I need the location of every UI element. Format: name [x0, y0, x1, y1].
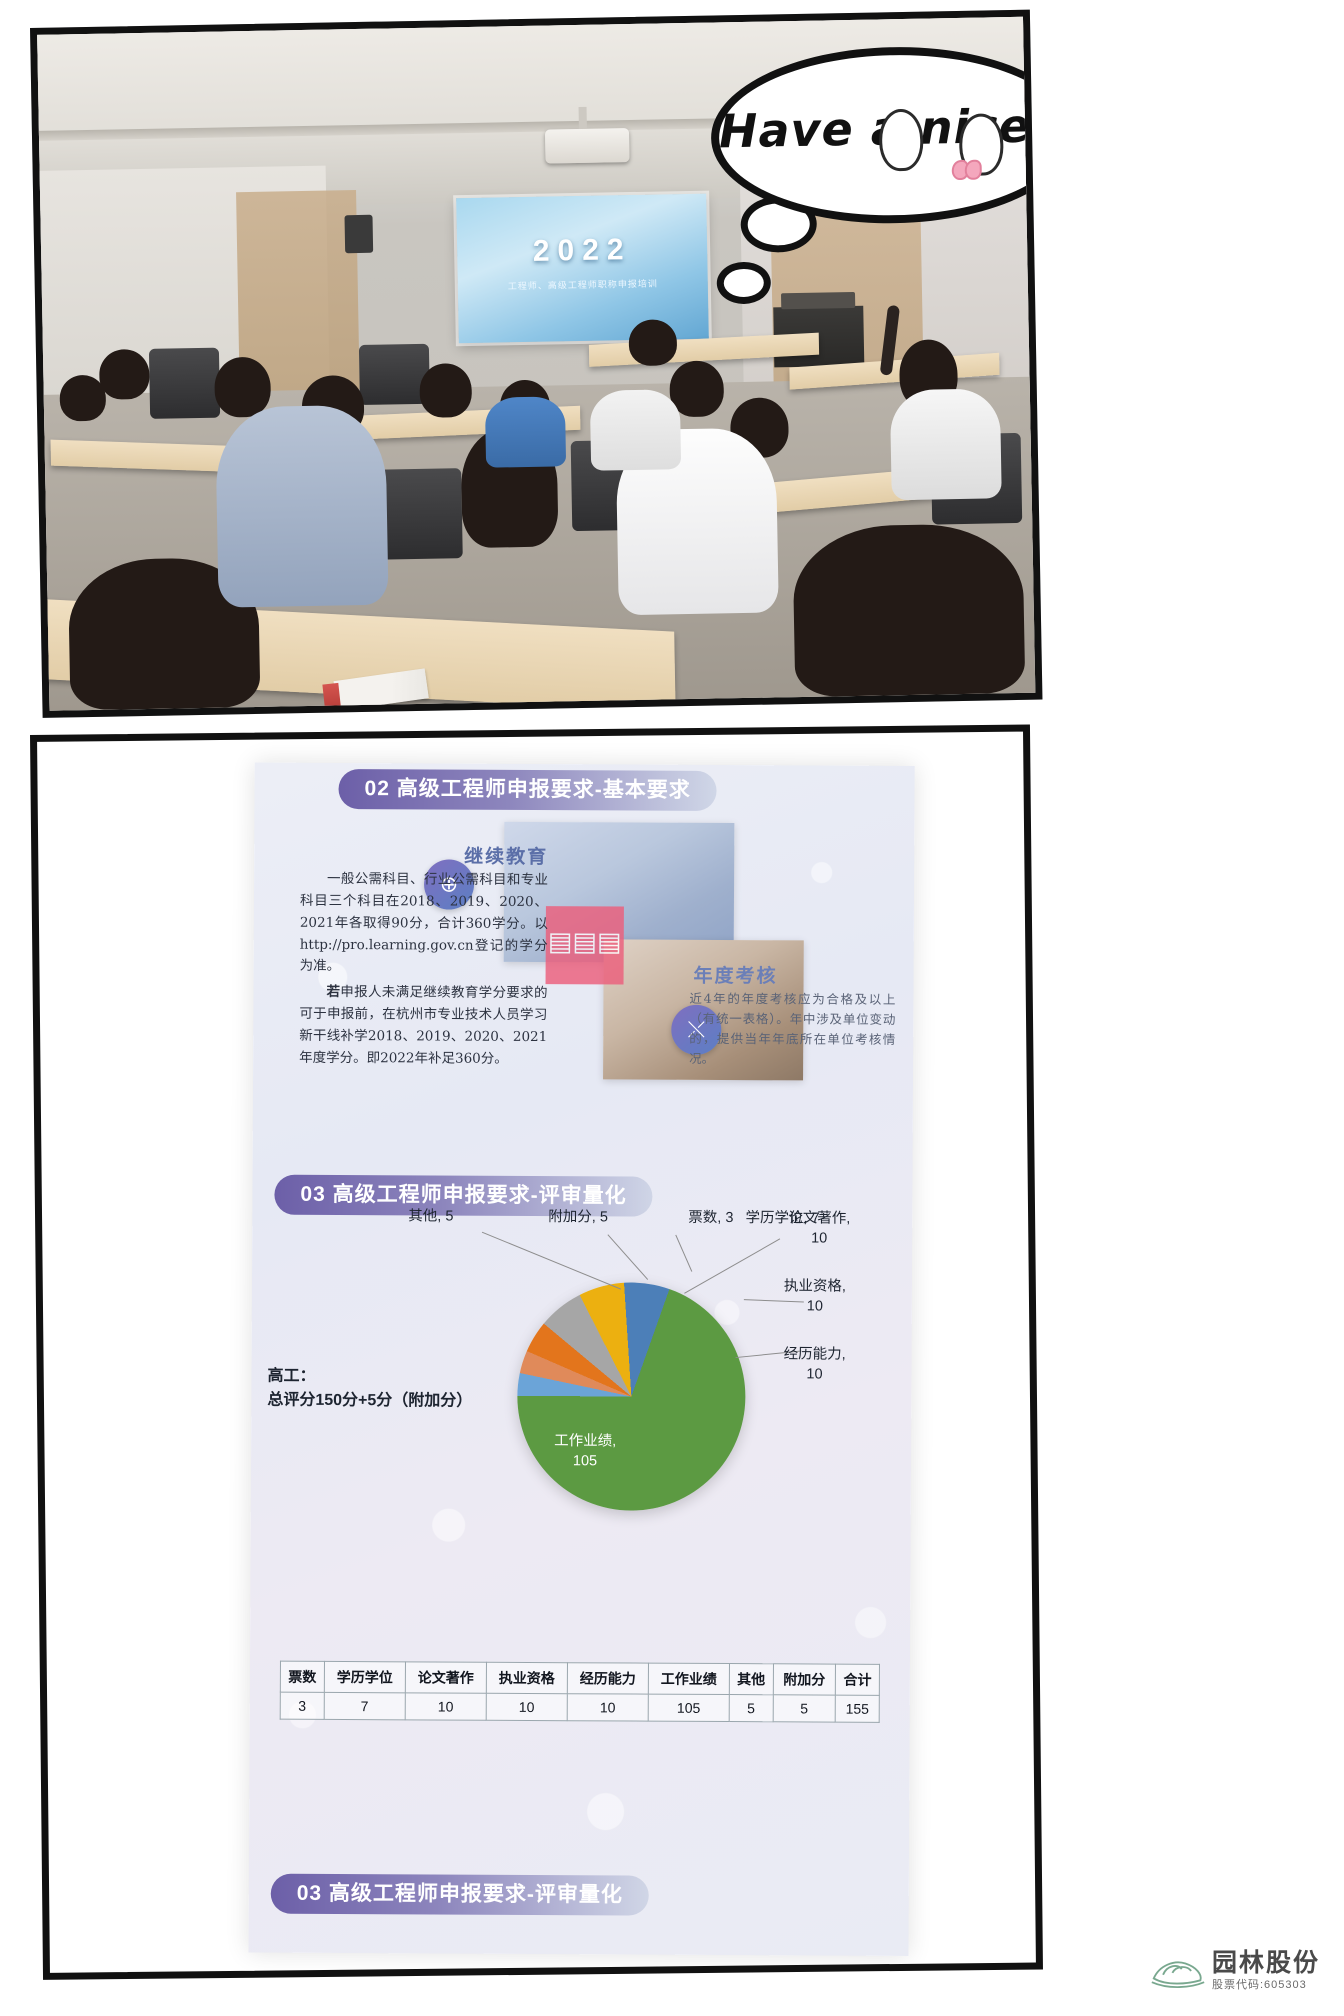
- pie-label-experience-value: 10: [783, 1365, 845, 1385]
- attendee-body: [485, 396, 566, 467]
- leader-line: [684, 1238, 780, 1293]
- leader-line: [675, 1235, 692, 1272]
- table-cell: 3: [280, 1692, 324, 1719]
- chair: [149, 348, 220, 419]
- attendee-foreground: [792, 523, 1025, 697]
- annual-review-body: 近4年的年度考核应为合格及以上（有统一表格）。年中涉及单位变动的，提供当年年底所…: [689, 989, 895, 1070]
- table-header-cell: 论文著作: [405, 1662, 486, 1693]
- pie-chart-graphic: [517, 1282, 746, 1511]
- pie-label-qualification-name: 执业资格,: [784, 1277, 846, 1297]
- section-evaluation-quantification: 03 高级工程师申报要求-评审量化 高工： 总评分150分+5分（附加分） 其他…: [249, 1163, 912, 1826]
- summary-text: 高工： 总评分150分+5分（附加分）: [267, 1365, 467, 1414]
- bunny-icon: [1039, 112, 1043, 175]
- section-basic-requirements: 02 高级工程师申报要求-基本要求 ▤▤▤ ⊕ ⤬ 继续教育 一般公需科目、行业…: [253, 763, 915, 1166]
- table-cell: 7: [324, 1692, 405, 1719]
- pie-chart: 其他, 5 附加分, 5 票数, 3 学历学位, 7 论文著作, 10 执业资格…: [487, 1226, 789, 1528]
- table-row: 3 7 10 10 10 105 5 5 155: [280, 1692, 879, 1722]
- watermark: 园林股份 股票代码:605303: [1144, 1934, 1334, 2008]
- section-title-basic: 02 高级工程师申报要求-基本要求: [338, 769, 716, 811]
- attendee-body: [590, 389, 681, 471]
- pink-accent-box: ▤▤▤: [546, 906, 624, 984]
- watermark-text: 园林股份 股票代码:605303: [1212, 1950, 1320, 1992]
- table-cell: 155: [835, 1695, 879, 1722]
- pie-label-bonus: 附加分, 5: [548, 1208, 608, 1228]
- pie-label-papers: 论文著作, 10: [788, 1209, 850, 1248]
- table-cell: 105: [648, 1694, 729, 1721]
- screen-year: 2022: [457, 232, 708, 271]
- pie-label-qualification: 执业资格, 10: [784, 1277, 846, 1316]
- leader-line: [482, 1232, 621, 1290]
- attendee-body: [215, 405, 389, 608]
- watermark-stock-code: 股票代码:605303: [1212, 1976, 1320, 1992]
- photo-panel-slide: 02 高级工程师申报要求-基本要求 ▤▤▤ ⊕ ⤬ 继续教育 一般公需科目、行业…: [30, 725, 1043, 1980]
- section-title-next: 03 高级工程师申报要求-评审量化: [271, 1874, 649, 1916]
- ce-paragraph-1: 一般公需科目、行业公需科目和专业科目三个科目在2018、2019、2020、20…: [300, 869, 549, 980]
- continuing-education-heading: 继续教育: [326, 841, 548, 869]
- summary-line-1: 高工：: [267, 1365, 467, 1390]
- projection-screen: 2022 工程师、高级工程师职称申报培训: [456, 194, 709, 344]
- table-header-cell: 其他: [729, 1664, 773, 1695]
- summary-line-2: 总评分150分+5分（附加分）: [267, 1389, 467, 1414]
- table-header-cell: 执业资格: [486, 1662, 567, 1693]
- attendee: [99, 349, 150, 400]
- attendee: [214, 357, 271, 418]
- leader-line: [607, 1234, 648, 1279]
- continuing-education-body: 一般公需科目、行业公需科目和专业科目三个科目在2018、2019、2020、20…: [299, 869, 548, 1075]
- table-header-cell: 票数: [280, 1661, 324, 1692]
- attendee: [419, 363, 472, 418]
- pie-label-performance-name: 工作业绩,: [525, 1432, 645, 1452]
- pink-bow-icon: [952, 160, 982, 177]
- speaker-icon: [344, 215, 373, 254]
- pie-label-votes: 票数, 3: [688, 1210, 733, 1226]
- pie-label-other: 其他, 5: [408, 1207, 453, 1227]
- table-header-row: 票数 学历学位 论文著作 执业资格 经历能力 工作业绩 其他 附加分 合计: [280, 1661, 879, 1695]
- table-header-cell: 学历学位: [324, 1661, 405, 1692]
- table-cell: 5: [729, 1695, 773, 1722]
- ce-paragraph-2-lead: 若: [326, 984, 340, 1000]
- pie-label-performance-value: 105: [525, 1452, 645, 1472]
- pie-label-papers-value: 10: [788, 1229, 850, 1249]
- table-cell: 10: [567, 1694, 648, 1721]
- bunny-icon: [879, 109, 924, 172]
- pie-label-papers-name: 论文著作,: [788, 1209, 850, 1229]
- ce-paragraph-2: 若申报人未满足继续教育学分要求的可于申报前，在杭州市专业技术人员学习新干线补学2…: [299, 982, 547, 1071]
- table-header-cell: 附加分: [773, 1664, 836, 1695]
- table-header-cell: 合计: [835, 1664, 879, 1695]
- projector-icon: [545, 128, 630, 164]
- score-table: 票数 学历学位 论文著作 执业资格 经历能力 工作业绩 其他 附加分 合计 3 …: [280, 1661, 880, 1723]
- section-next-slide: 03 高级工程师申报要求-评审量化: [248, 1848, 909, 1956]
- pie-label-experience: 经历能力, 10: [783, 1345, 845, 1384]
- table-header-cell: 经历能力: [567, 1663, 648, 1694]
- pie-label-performance: 工作业绩, 105: [525, 1432, 645, 1472]
- pie-label-qualification-value: 10: [784, 1297, 846, 1317]
- table-header-cell: 工作业绩: [648, 1663, 729, 1694]
- attendee-body: [890, 388, 1002, 500]
- presentation-slide: 02 高级工程师申报要求-基本要求 ▤▤▤ ⊕ ⤬ 继续教育 一般公需科目、行业…: [248, 763, 914, 1956]
- table-cell: 5: [773, 1695, 836, 1722]
- annual-review-heading: 年度考核: [694, 961, 894, 989]
- leaf-logo-icon: [1150, 1950, 1206, 1992]
- table-cell: 10: [405, 1693, 486, 1720]
- books-icon: ▤▤▤: [546, 928, 624, 954]
- pie-label-experience-name: 经历能力,: [784, 1345, 846, 1365]
- table-cell: 10: [486, 1693, 567, 1720]
- photo-panel-classroom: 2022 工程师、高级工程师职称申报培训: [30, 10, 1042, 718]
- watermark-company: 园林股份: [1212, 1950, 1320, 1976]
- attendee: [628, 319, 677, 366]
- screen-caption: 工程师、高级工程师职称申报培训: [458, 276, 708, 294]
